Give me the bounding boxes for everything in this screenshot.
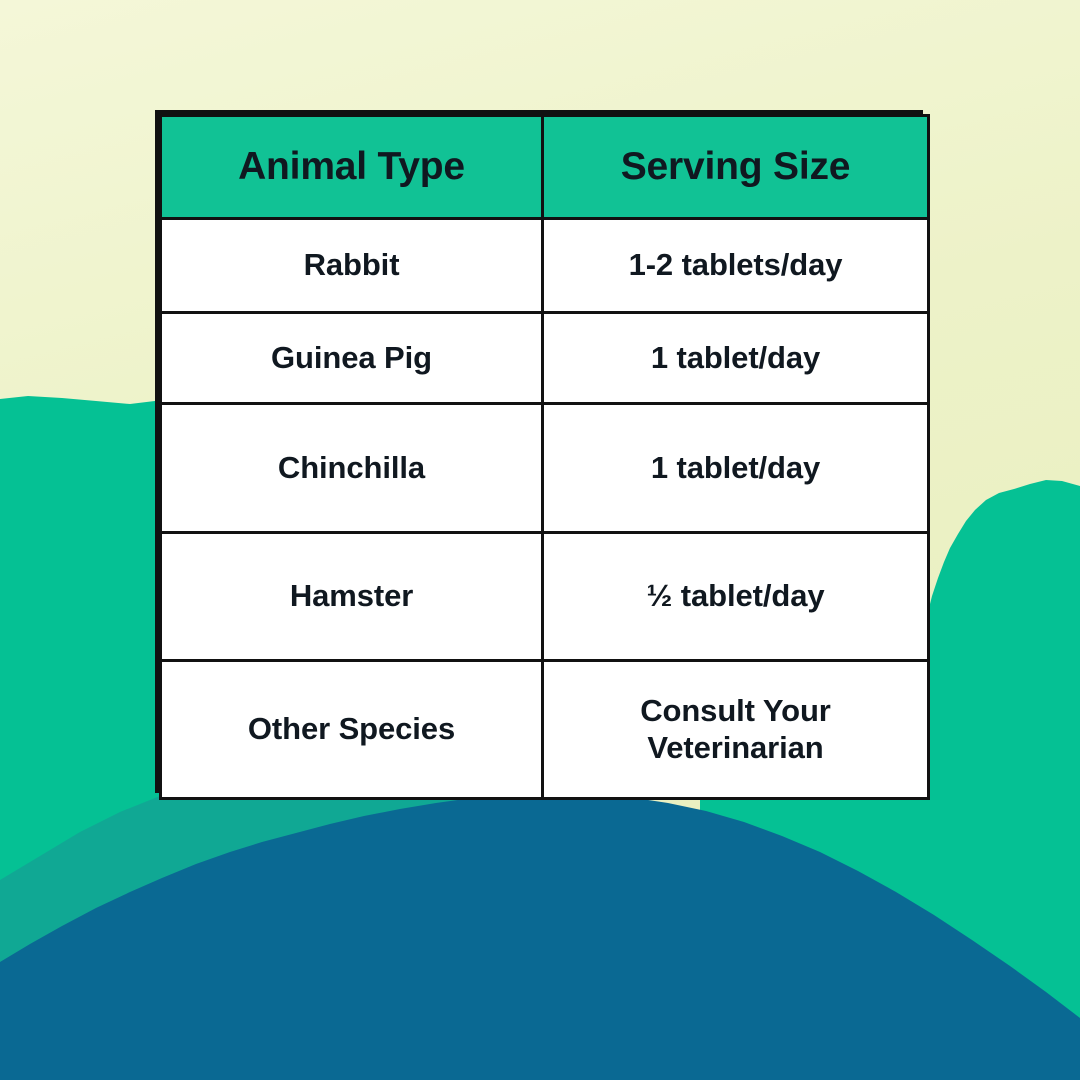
column-header-serving-size: Serving Size [543, 116, 929, 219]
table-header-row: Animal Type Serving Size [161, 116, 929, 219]
cell-serving-size: ½ tablet/day [543, 533, 929, 661]
cell-serving-size: Consult Your Veterinarian [543, 661, 929, 799]
table-row: Guinea Pig 1 tablet/day [161, 313, 929, 404]
table-row: Rabbit 1-2 tablets/day [161, 219, 929, 313]
table-header: Animal Type Serving Size [161, 116, 929, 219]
serving-size-table-container: Animal Type Serving Size Rabbit 1-2 tabl… [155, 110, 923, 793]
cell-animal-type: Other Species [161, 661, 543, 799]
cell-animal-type: Rabbit [161, 219, 543, 313]
cell-serving-size: 1 tablet/day [543, 404, 929, 533]
cell-animal-type: Guinea Pig [161, 313, 543, 404]
table-row: Other Species Consult Your Veterinarian [161, 661, 929, 799]
table-row: Chinchilla 1 tablet/day [161, 404, 929, 533]
column-header-animal-type: Animal Type [161, 116, 543, 219]
table-row: Hamster ½ tablet/day [161, 533, 929, 661]
cell-serving-size: 1-2 tablets/day [543, 219, 929, 313]
cell-animal-type: Hamster [161, 533, 543, 661]
serving-size-table: Animal Type Serving Size Rabbit 1-2 tabl… [159, 114, 930, 800]
cell-serving-size: 1 tablet/day [543, 313, 929, 404]
table-body: Rabbit 1-2 tablets/day Guinea Pig 1 tabl… [161, 219, 929, 799]
cell-animal-type: Chinchilla [161, 404, 543, 533]
